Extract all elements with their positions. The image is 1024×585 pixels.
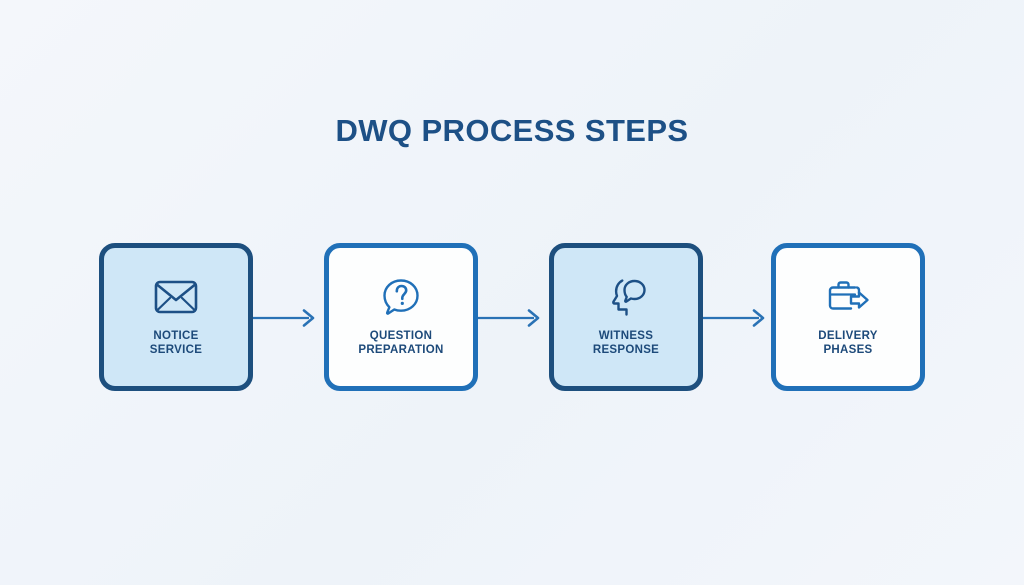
connector-arrow-2 [478, 309, 548, 327]
diagram-canvas: DWQ PROCESS STEPS NOTICE SERVICE [0, 0, 1024, 585]
process-flow: NOTICE SERVICE QUESTION PREPARATION [99, 243, 925, 391]
question-speech-bubble-icon [378, 277, 424, 317]
process-step-label: NOTICE SERVICE [150, 329, 202, 358]
connector-arrow-1 [253, 309, 323, 327]
envelope-icon [153, 277, 199, 317]
page-title: DWQ PROCESS STEPS [0, 112, 1024, 150]
process-step-question-preparation[interactable]: QUESTION PREPARATION [324, 243, 478, 391]
process-step-notice-service[interactable]: NOTICE SERVICE [99, 243, 253, 391]
process-step-label: DELIVERY PHASES [818, 329, 877, 358]
connector-arrow-3 [703, 309, 773, 327]
process-step-label: QUESTION PREPARATION [358, 329, 443, 358]
process-step-label: WITNESS RESPONSE [593, 329, 659, 358]
process-step-witness-response[interactable]: WITNESS RESPONSE [549, 243, 703, 391]
process-step-delivery-phases[interactable]: DELIVERY PHASES [771, 243, 925, 391]
briefcase-arrow-icon [825, 277, 871, 317]
head-speech-bubble-icon [603, 277, 649, 317]
